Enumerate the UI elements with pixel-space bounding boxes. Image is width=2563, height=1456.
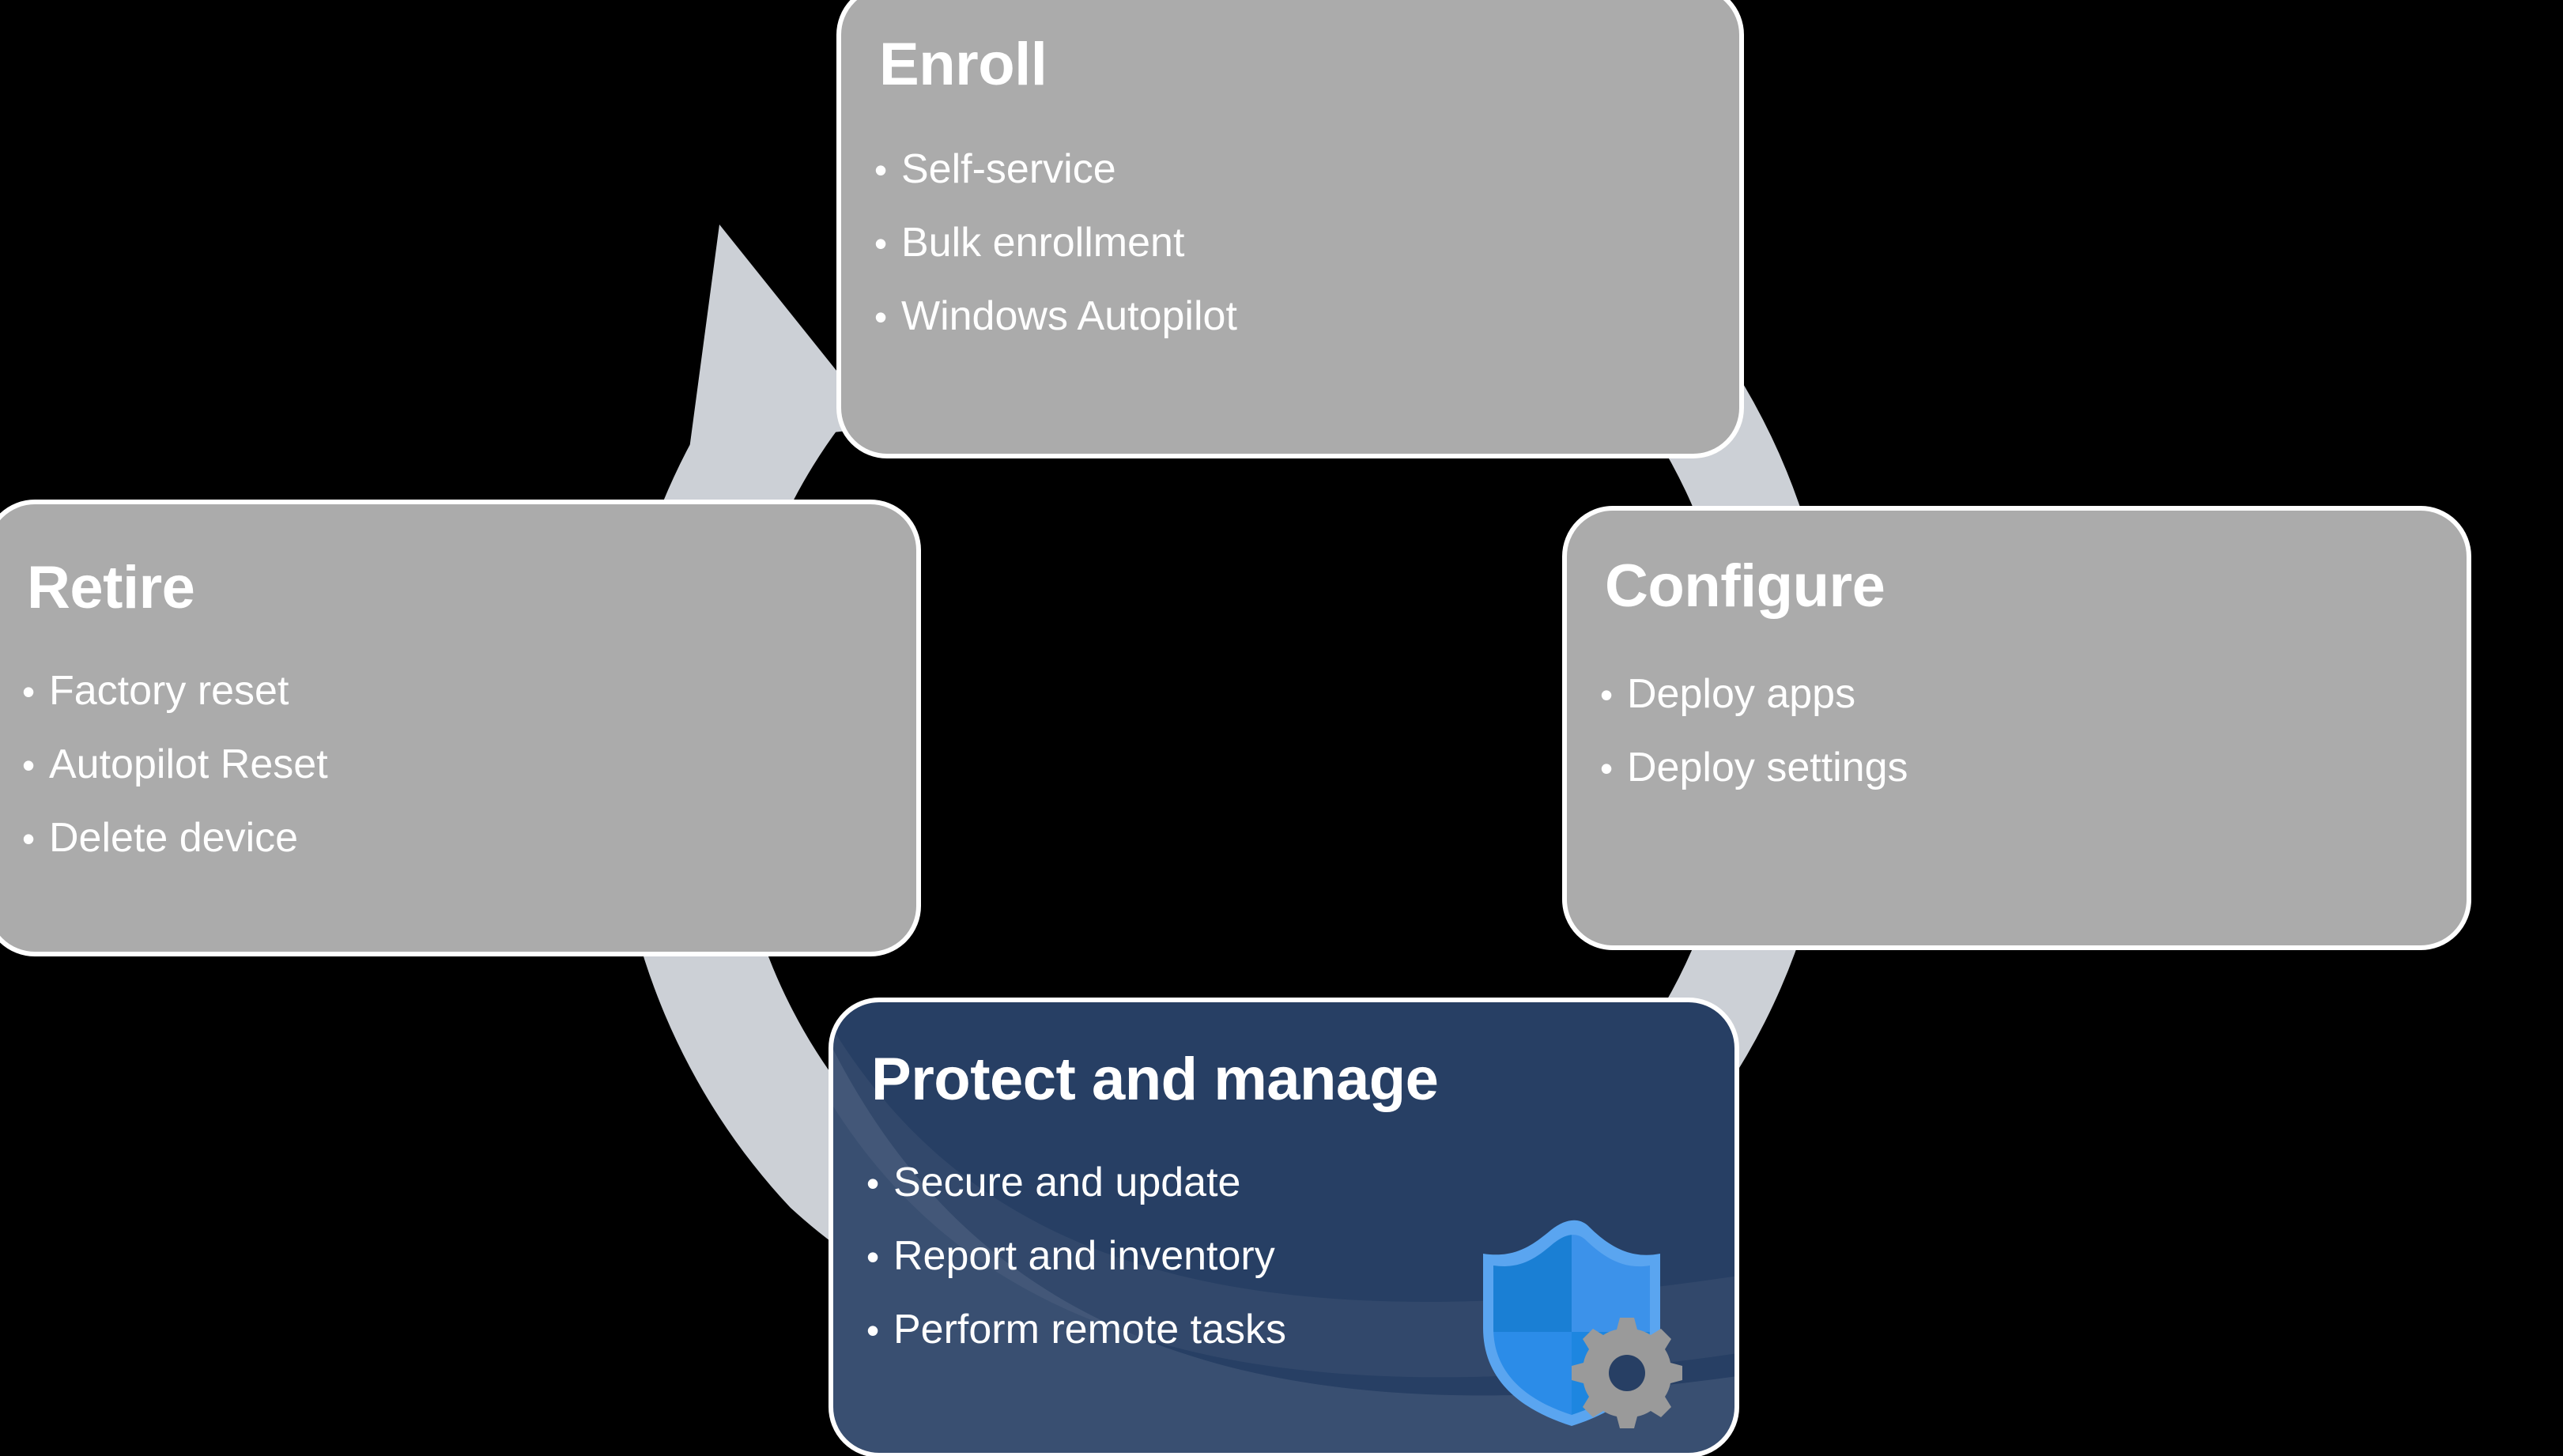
card-protect-body: Protect and manage Secure and update Rep… xyxy=(833,1002,1734,1453)
list-item: Report and inventory xyxy=(866,1220,1286,1293)
list-item: Windows Autopilot xyxy=(874,280,1237,353)
card-enroll-bullets: Self-service Bulk enrollment Windows Aut… xyxy=(874,133,1237,353)
card-configure-bullets: Deploy apps Deploy settings xyxy=(1600,658,1908,805)
list-item: Factory reset xyxy=(22,654,328,728)
card-enroll[interactable]: Enroll Self-service Bulk enrollment Wind… xyxy=(836,0,1744,458)
card-enroll-title: Enroll xyxy=(879,35,1047,95)
card-retire[interactable]: Retire Factory reset Autopilot Reset Del… xyxy=(0,500,921,956)
card-enroll-body: Enroll Self-service Bulk enrollment Wind… xyxy=(841,0,1739,454)
card-retire-title: Retire xyxy=(27,558,194,618)
card-protect-and-manage[interactable]: Protect and manage Secure and update Rep… xyxy=(829,998,1739,1456)
list-item: Secure and update xyxy=(866,1146,1286,1220)
list-item: Autopilot Reset xyxy=(22,728,328,802)
list-item: Bulk enrollment xyxy=(874,206,1237,280)
shield-gear-icon xyxy=(1472,1209,1693,1431)
list-item: Delete device xyxy=(22,802,328,875)
card-protect-bullets: Secure and update Report and inventory P… xyxy=(866,1146,1286,1367)
card-retire-body: Retire Factory reset Autopilot Reset Del… xyxy=(0,504,916,952)
card-configure[interactable]: Configure Deploy apps Deploy settings xyxy=(1562,506,2471,950)
card-retire-bullets: Factory reset Autopilot Reset Delete dev… xyxy=(22,654,328,875)
list-item: Self-service xyxy=(874,133,1237,206)
gear-icon xyxy=(1572,1318,1682,1428)
list-item: Deploy settings xyxy=(1600,731,1908,805)
card-protect-title: Protect and manage xyxy=(871,1050,1438,1110)
cycle-diagram: Enroll Self-service Bulk enrollment Wind… xyxy=(0,0,2563,1456)
list-item: Perform remote tasks xyxy=(866,1293,1286,1367)
card-configure-body: Configure Deploy apps Deploy settings xyxy=(1567,511,2467,945)
card-configure-title: Configure xyxy=(1605,556,1885,617)
list-item: Deploy apps xyxy=(1600,658,1908,731)
